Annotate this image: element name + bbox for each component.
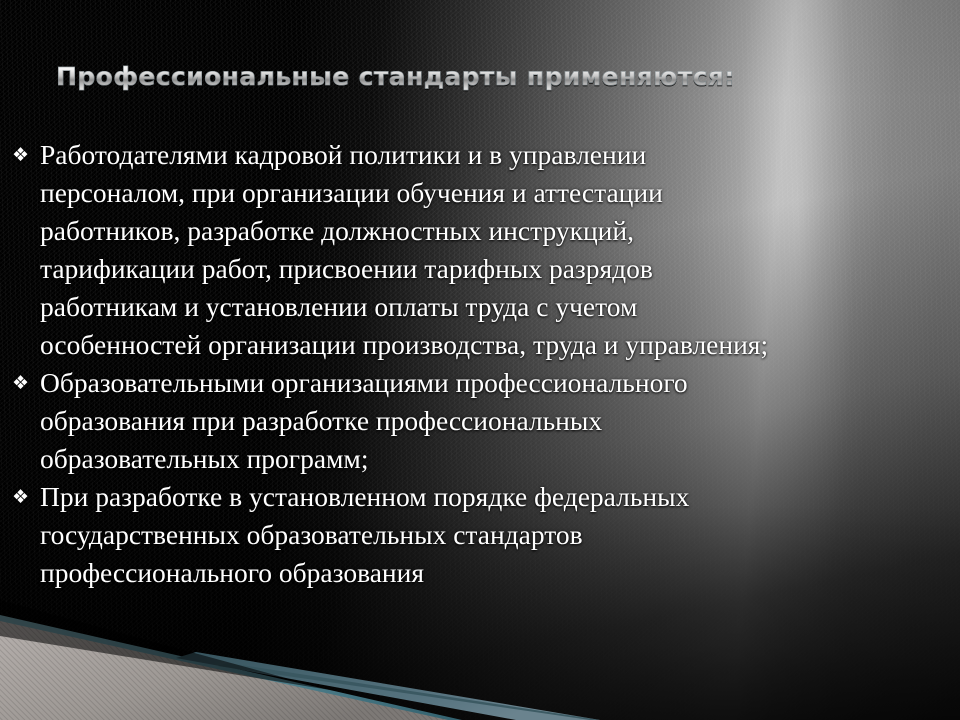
list-item: ❖ Работодателями кадровой политики и в у… <box>12 136 942 174</box>
list-item-text: особенностей организации производства, т… <box>40 326 768 364</box>
bullet-diamond-icon: ❖ <box>12 364 40 402</box>
list-item-text: образования при разработке профессиональ… <box>40 402 602 440</box>
list-item: государственных образовательных стандарт… <box>12 516 942 554</box>
list-item: персоналом, при организации обучения и а… <box>12 174 942 212</box>
bullet-diamond-icon: ❖ <box>12 136 40 174</box>
list-item: ❖ При разработке в установленном порядке… <box>12 478 942 516</box>
list-item-text: При разработке в установленном порядке ф… <box>40 478 689 516</box>
presentation-slide: Профессиональные стандарты применяются: … <box>0 0 960 720</box>
list-item: работников, разработке должностных инстр… <box>12 212 942 250</box>
list-item-text: образовательных программ; <box>40 440 368 478</box>
list-item: тарификации работ, присвоении тарифных р… <box>12 250 942 288</box>
list-item: профессионального образования <box>12 554 942 592</box>
slide-title: Профессиональные стандарты применяются: <box>56 62 735 91</box>
list-item-text: Работодателями кадровой политики и в упр… <box>40 136 646 174</box>
list-item-text: работникам и установлении оплаты труда с… <box>40 288 637 326</box>
bullet-diamond-icon: ❖ <box>12 478 40 516</box>
list-item-text: профессионального образования <box>40 554 424 592</box>
list-item: образования при разработке профессиональ… <box>12 402 942 440</box>
list-item-text: персоналом, при организации обучения и а… <box>40 174 663 212</box>
list-item: образовательных программ; <box>12 440 942 478</box>
list-item: особенностей организации производства, т… <box>12 326 942 364</box>
list-item-text: Образовательными организациями профессио… <box>40 364 688 402</box>
list-item-text: государственных образовательных стандарт… <box>40 516 583 554</box>
list-item-text: работников, разработке должностных инстр… <box>40 212 634 250</box>
list-item: работникам и установлении оплаты труда с… <box>12 288 942 326</box>
list-item: ❖ Образовательными организациями професс… <box>12 364 942 402</box>
bullet-list: ❖ Работодателями кадровой политики и в у… <box>12 136 942 592</box>
list-item-text: тарификации работ, присвоении тарифных р… <box>40 250 653 288</box>
